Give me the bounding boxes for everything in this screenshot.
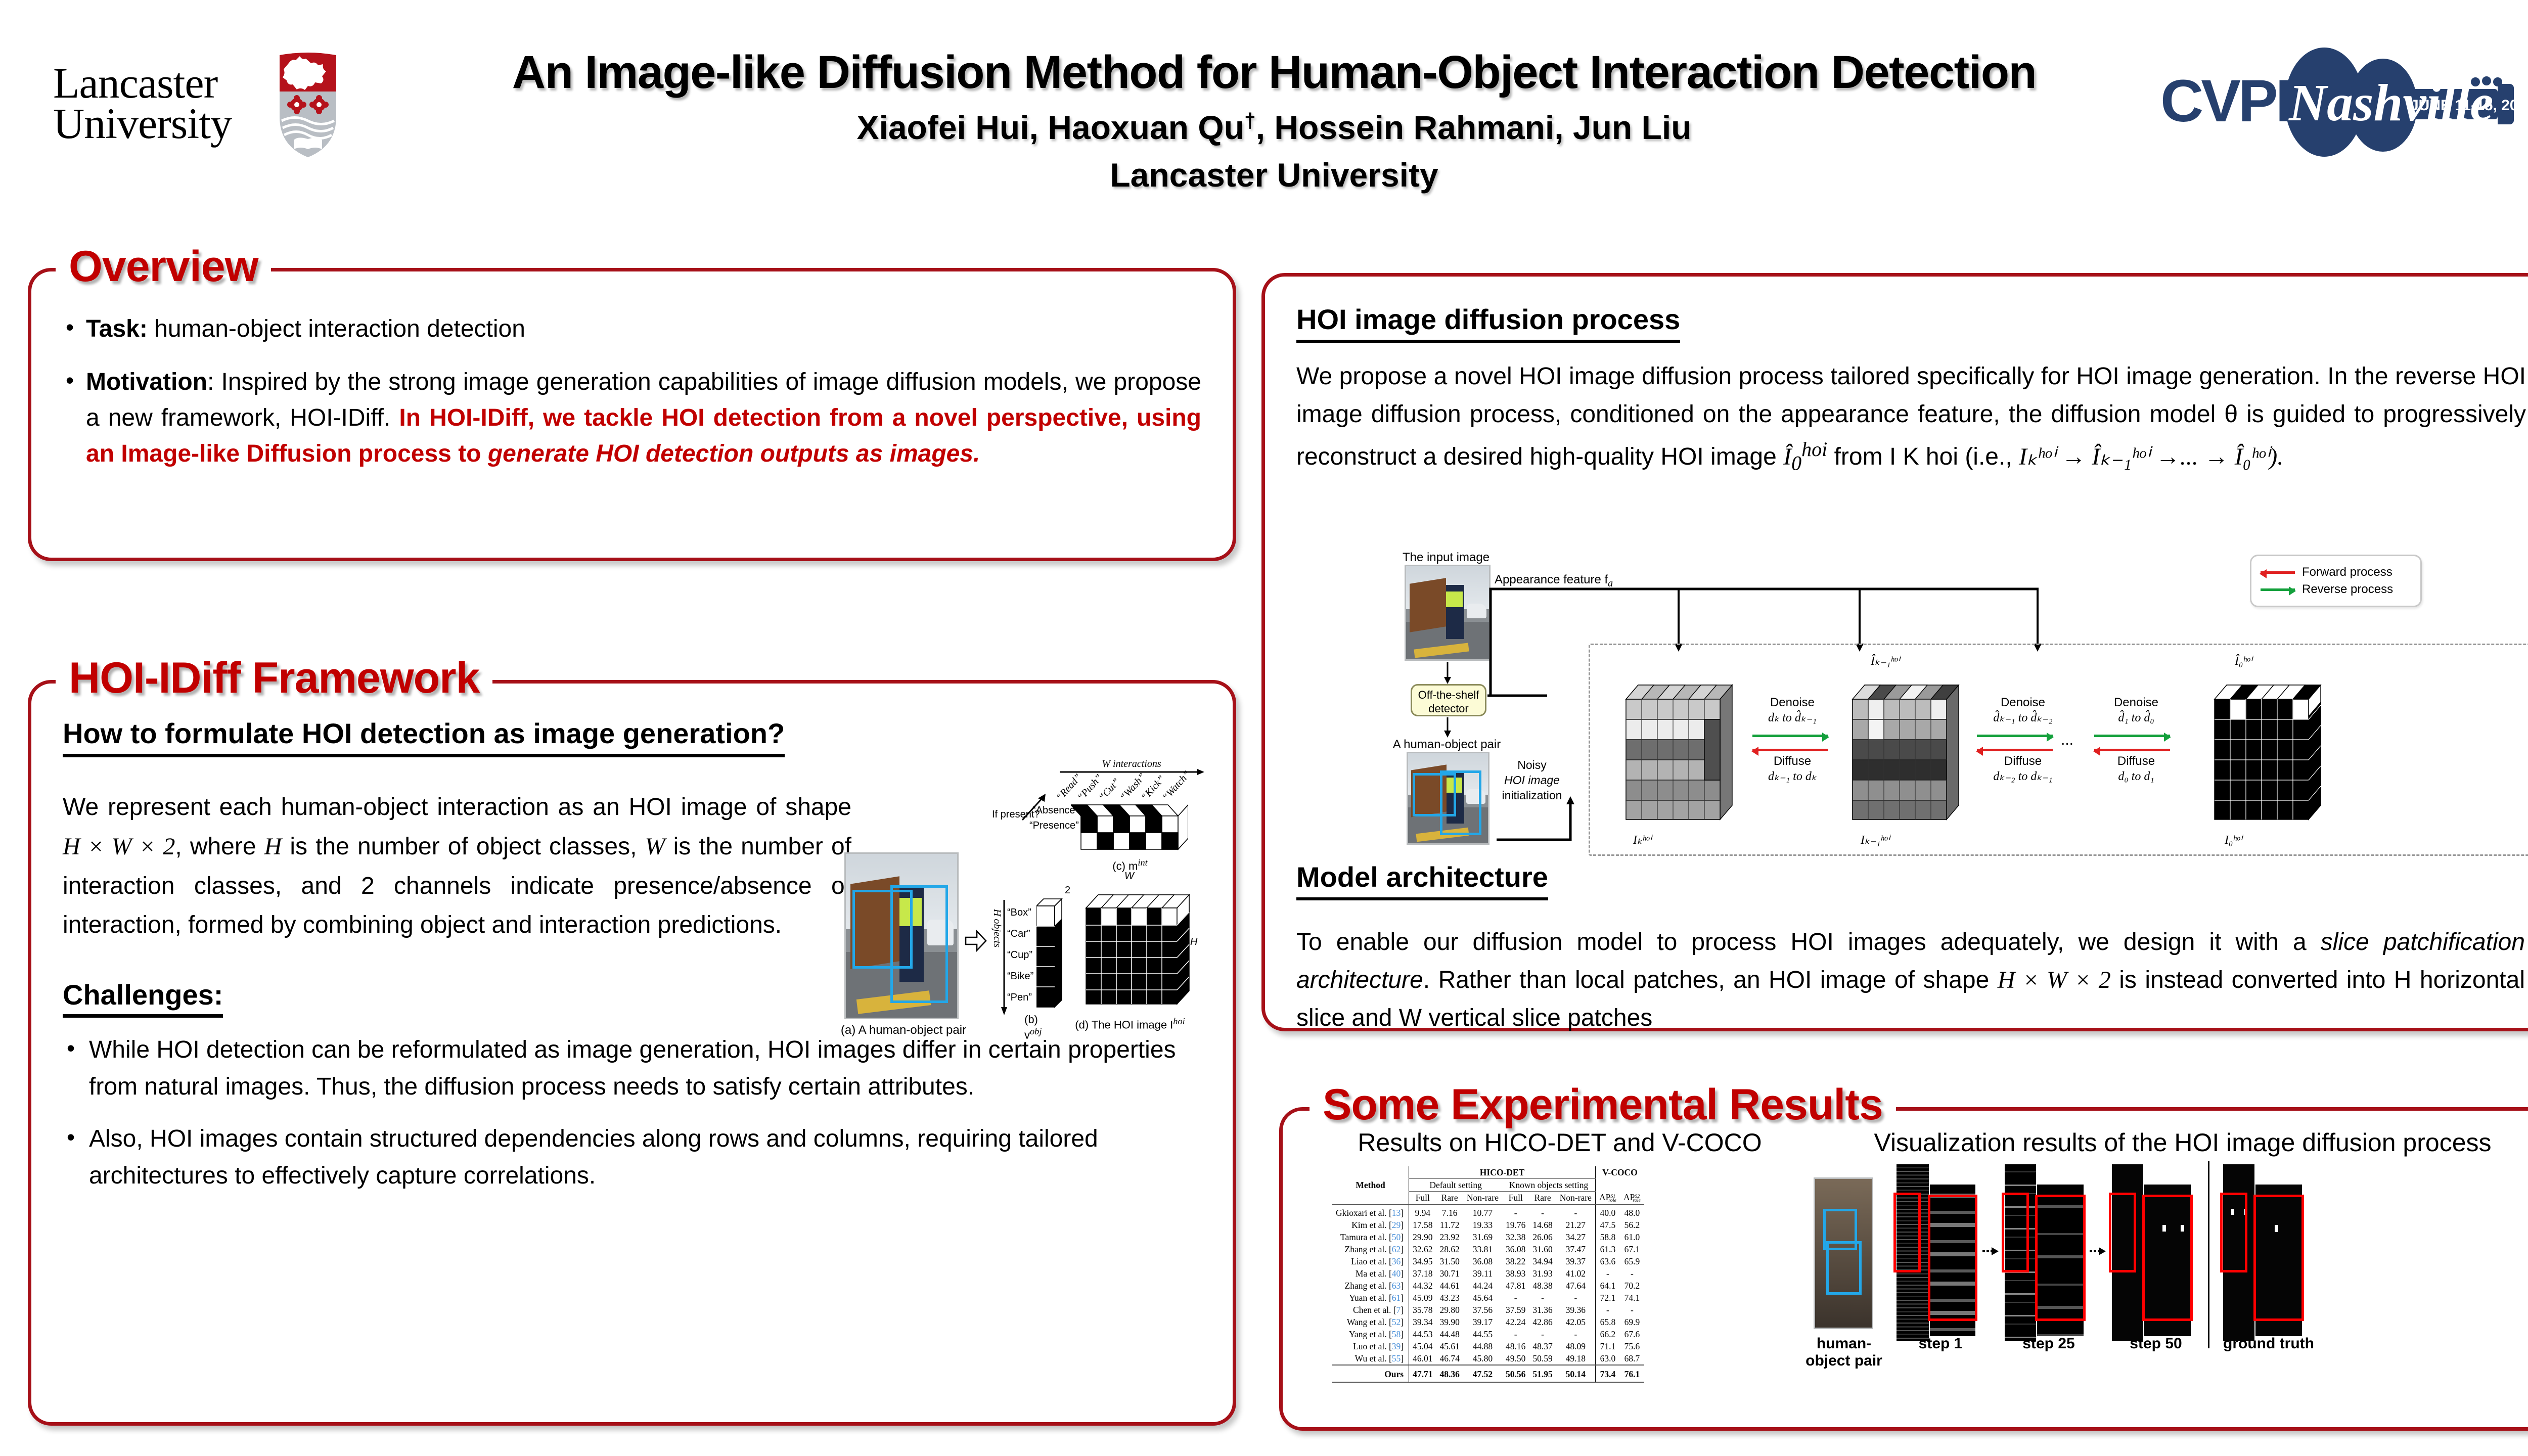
caption-c-sup: int	[1138, 857, 1147, 868]
table-cell-value: 26.06	[1529, 1231, 1556, 1243]
diffusion-formula-tail: from I K hoi (i.e.,	[1827, 443, 2019, 470]
table-cell-method: Yuan et al. [61]	[1332, 1292, 1409, 1304]
table-cell-value: 72.1	[1595, 1292, 1620, 1304]
table-cell-value: 48.16	[1502, 1340, 1529, 1352]
diffusion-paragraph: We propose a novel HOI image diffusion p…	[1296, 358, 2526, 479]
table-row: Zhang et al. [63]44.3244.6144.2447.8148.…	[1332, 1280, 1644, 1292]
authors-post: , Hossein Rahmani, Jun Liu	[1256, 109, 1692, 146]
table-cell-value: 68.7	[1620, 1352, 1644, 1365]
noisy-init-arrow-icon	[1495, 796, 1591, 843]
caption-d-sup: hoi	[1173, 1016, 1185, 1026]
detector-label-line1: Off-the-shelf	[1414, 689, 1483, 702]
lancaster-line-2: University	[53, 104, 232, 144]
col-ap-s1: APS1role	[1595, 1192, 1620, 1205]
table-row: Chen et al. [7]35.7829.8037.5637.5931.36…	[1332, 1304, 1644, 1316]
table-cell-value: 37.47	[1556, 1243, 1596, 1255]
table-row: Ours47.7148.3647.5250.5651.9550.1473.476…	[1332, 1365, 1644, 1382]
legend-reverse-label: Reverse process	[2302, 582, 2393, 597]
denoise-3-line1: Denoise	[2088, 695, 2184, 710]
table-group-header-row: Method HICO-DET V-COCO	[1332, 1166, 1644, 1179]
title-block: An Image-like Diffusion Method for Human…	[435, 48, 2113, 194]
detector-to-pair-arrow-icon	[1442, 717, 1453, 738]
figure-caption-a: (a) A human-object pair	[840, 1023, 967, 1037]
caption-b-sup: obj	[1030, 1026, 1042, 1036]
table-row: Yang et al. [58]44.5344.4844.55---66.267…	[1332, 1328, 1644, 1340]
table-cell-value: 42.05	[1556, 1316, 1596, 1328]
table-row: Ma et al. [40]37.1830.7139.1138.9331.934…	[1332, 1267, 1644, 1280]
viz-label-step1: step 1	[1903, 1335, 1978, 1352]
table-cell-value: 73.4	[1595, 1365, 1620, 1382]
viz-arrow-1-icon	[1982, 1246, 2000, 1256]
table-row: Yuan et al. [61]45.0943.2345.64---72.174…	[1332, 1292, 1644, 1304]
table-row: Kim et al. [29]17.5811.7219.3319.7614.68…	[1332, 1219, 1644, 1231]
mint-cuboid-icon	[1071, 801, 1188, 857]
table-cell-value: 74.1	[1620, 1292, 1644, 1304]
table-cell-value: 47.64	[1556, 1280, 1596, 1292]
cube-0-bottom-label: I₀ʰᵒⁱ	[2225, 833, 2242, 847]
transform-arrow-icon	[965, 929, 988, 952]
hoi-image-cube: W 2 H (d) The HOI image Ihoi	[1062, 871, 1213, 1032]
subgroup-known: Known objects setting	[1502, 1179, 1595, 1192]
table-cell-value: 9.94	[1409, 1205, 1436, 1219]
table-cell-value: 76.1	[1620, 1365, 1644, 1382]
table-cell-value: 51.95	[1529, 1365, 1556, 1382]
hoi-image-symbol: Î0hoi	[1783, 443, 1827, 470]
diffuse-2-line2: dₖ₋₂ to dₖ₋₁	[1970, 769, 2076, 784]
table-cell-value: 33.81	[1463, 1243, 1502, 1255]
object-vector-column: H objects “Box” “Car” “Cup” “Bike” “Pen”…	[996, 879, 1057, 1030]
lancaster-wordmark: Lancaster University	[53, 63, 232, 144]
denoise-2-line1: Denoise	[1970, 695, 2076, 710]
table-cell-value: -	[1529, 1292, 1556, 1304]
diffuse-label-2: Diffuse dₖ₋₂ to dₖ₋₁	[1970, 754, 2076, 784]
table-row: Zhang et al. [62]32.6228.6233.8136.0831.…	[1332, 1243, 1644, 1255]
table-cell-value: 46.74	[1436, 1352, 1463, 1365]
subgroup-default: Default setting	[1409, 1179, 1502, 1192]
table-cell-value: 32.38	[1502, 1231, 1529, 1243]
object-label-pen: “Pen”	[1007, 992, 1032, 1004]
table-cell-value: 31.93	[1529, 1267, 1556, 1280]
table-row: Tamura et al. [50]29.9023.9231.6932.3826…	[1332, 1231, 1644, 1243]
overview-bullet-motivation: Motivation: Inspired by the strong image…	[63, 364, 1201, 472]
challenge-item-2: Also, HOI images contain structured depe…	[63, 1121, 1201, 1195]
visualization-strip: human-object pair step 1 step 25 step 50	[1809, 1159, 2528, 1392]
detector-output-line-icon	[1487, 692, 1548, 699]
table-row: Luo et al. [39]45.0445.6144.8848.1648.37…	[1332, 1340, 1644, 1352]
table-cell-value: 48.09	[1556, 1340, 1596, 1352]
table-cell-value: 44.24	[1463, 1280, 1502, 1292]
viz-step25-right-redbox	[2035, 1195, 2086, 1321]
table-cell-value: 23.92	[1436, 1231, 1463, 1243]
denoise-1-line1: Denoise	[1744, 695, 1840, 710]
table-row: Liao et al. [36]34.9531.5036.0838.2234.9…	[1332, 1255, 1644, 1267]
table-caption: Results on HICO-DET and V-COCO	[1307, 1128, 1813, 1157]
col-full-1: Full	[1409, 1192, 1436, 1205]
table-row: Wu et al. [55]46.0146.7445.8049.5050.594…	[1332, 1352, 1644, 1365]
table-cell-method: Kim et al. [29]	[1332, 1219, 1409, 1231]
noisy-line-1: Noisy	[1497, 758, 1567, 773]
table-cell-value: 39.90	[1436, 1316, 1463, 1328]
framework-var-w: W	[645, 833, 665, 860]
viz-object-box	[1826, 1241, 1861, 1295]
table-cell-method: Chen et al. [7]	[1332, 1304, 1409, 1316]
table-cell-method: Zhang et al. [62]	[1332, 1243, 1409, 1255]
table-cell-value: 37.59	[1502, 1304, 1529, 1316]
results-section-title: Some Experimental Results	[1310, 1080, 1896, 1130]
viz-label-pair: human-object pair	[1799, 1335, 1888, 1370]
architecture-heading: Model architecture	[1296, 860, 1548, 900]
object-label-box: “Box”	[1007, 907, 1031, 919]
author-list: Xiaofei Hui, Haoxuan Qu†, Hossein Rahman…	[435, 108, 2113, 147]
table-row: Gkioxari et al. [13]9.947.1610.77---40.0…	[1332, 1205, 1644, 1219]
table-cell-value: 37.18	[1409, 1267, 1436, 1280]
viz-label-step50: step 50	[2118, 1335, 2194, 1352]
table-cell-value: 39.37	[1556, 1255, 1596, 1267]
architecture-paragraph: To enable our diffusion model to process…	[1296, 924, 2525, 1037]
table-cell-value: 35.78	[1409, 1304, 1436, 1316]
forward-arrow-2-icon	[1977, 749, 2053, 751]
cvpr-dates: JUNE 11-15, 2025	[2410, 97, 2515, 114]
reverse-arrow-3-icon	[2094, 735, 2170, 737]
task-label: Task:	[86, 315, 148, 342]
table-cell-value: 61.0	[1620, 1231, 1644, 1243]
interaction-cuboid: W interactions “Read” “Push” “Cut” “Wash…	[996, 756, 1213, 868]
table-cell-value: 44.53	[1409, 1328, 1436, 1340]
input-image-label: The input image	[1395, 551, 1497, 565]
table-cell-value: -	[1595, 1267, 1620, 1280]
group-hico-det: HICO-DET	[1409, 1166, 1596, 1179]
lancaster-shield-icon	[280, 52, 336, 158]
overview-bullets: Task: human-object interaction detection…	[63, 311, 1201, 472]
table-cell-value: 31.60	[1529, 1243, 1556, 1255]
col-ap-s2: APS2role	[1620, 1192, 1644, 1205]
task-text: human-object interaction detection	[148, 315, 525, 342]
table-cell-method: Yang et al. [58]	[1332, 1328, 1409, 1340]
cube-k-bottom-label: Iₖʰᵒⁱ	[1633, 833, 1651, 847]
table-cell-value: 44.32	[1409, 1280, 1436, 1292]
table-cell-value: -	[1620, 1267, 1644, 1280]
table-cell-value: -	[1556, 1205, 1596, 1219]
table-cell-value: 19.33	[1463, 1219, 1502, 1231]
reverse-arrow-1-icon	[1752, 735, 1828, 737]
col-rare-1: Rare	[1436, 1192, 1463, 1205]
table-cell-value: 36.08	[1502, 1243, 1529, 1255]
table-cell-value: 48.36	[1436, 1365, 1463, 1382]
col-method: Method	[1332, 1166, 1409, 1205]
overview-section-title: Overview	[56, 242, 271, 292]
table-cell-value: 45.09	[1409, 1292, 1436, 1304]
table-cell-value: 44.61	[1436, 1280, 1463, 1292]
table-cell-method: Wang et al. [52]	[1332, 1316, 1409, 1328]
table-cell-value: 11.72	[1436, 1219, 1463, 1231]
diffusion-cube-0	[2202, 671, 2329, 828]
results-panel: Results on HICO-DET and V-COCO Visualiza…	[1279, 1107, 2528, 1431]
table-cell-value: 45.04	[1409, 1340, 1436, 1352]
table-cell-value: 44.48	[1436, 1328, 1463, 1340]
table-cell-value: 39.34	[1409, 1316, 1436, 1328]
legend-forward-label: Forward process	[2302, 565, 2392, 579]
table-cell-value: 17.58	[1409, 1219, 1436, 1231]
hoi-construction-figure: (a) A human-object pair W interactions “…	[844, 753, 1218, 1072]
framework-question: How to formulate HOI detection as image …	[63, 717, 785, 757]
denoise-2-line2: d̂ₖ₋₁ to d̂ₖ₋₂	[1970, 710, 2076, 725]
input-image-photo	[1405, 565, 1491, 661]
visualization-caption: Visualization results of the HOI image d…	[1824, 1128, 2528, 1157]
table-cell-method: Ma et al. [40]	[1332, 1267, 1409, 1280]
lancaster-university-logo: Lancaster University	[53, 48, 356, 159]
table-cell-value: 44.88	[1463, 1340, 1502, 1352]
framework-para-1: We represent each human-object interacti…	[63, 794, 851, 821]
group-vcoco: V-COCO	[1595, 1166, 1644, 1179]
table-cell-value: 66.2	[1595, 1328, 1620, 1340]
col-rare-2: Rare	[1529, 1192, 1556, 1205]
table-cell-value: 10.77	[1463, 1205, 1502, 1219]
reverse-arrow-2-icon	[1977, 735, 2053, 737]
table-cell-value: 30.71	[1436, 1267, 1463, 1280]
table-cell-value: 50.56	[1502, 1365, 1529, 1382]
input-to-detector-arrow-icon	[1442, 662, 1453, 684]
arch-shape-expr: H × W × 2	[1998, 967, 2111, 993]
human-bounding-box	[890, 885, 948, 1003]
viz-divider	[2208, 1161, 2209, 1348]
table-cell-value: 64.1	[1595, 1280, 1620, 1292]
motivation-highlight-b: generate HOI detection outputs as images…	[488, 440, 980, 467]
lancaster-line-1: Lancaster	[53, 63, 232, 104]
table-cell-value: -	[1556, 1292, 1596, 1304]
human-object-pair-photo-2	[1407, 752, 1489, 845]
table-cell-value: 71.1	[1595, 1340, 1620, 1352]
table-cell-value: 47.5	[1595, 1219, 1620, 1231]
table-cell-value: 63.0	[1595, 1352, 1620, 1365]
table-cell-value: 45.80	[1463, 1352, 1502, 1365]
results-table-body: Gkioxari et al. [13]9.947.1610.77---40.0…	[1332, 1205, 1644, 1383]
object-label-car: “Car”	[1007, 928, 1030, 940]
w-interactions-label: W interactions	[1102, 758, 1161, 769]
legend-reverse-row: Reverse process	[2261, 582, 2411, 597]
denoise-1-line2: dₖ to d̂ₖ₋₁	[1744, 710, 1840, 725]
diffuse-label-1: Diffuse dₖ₋₁ to dₖ	[1744, 754, 1840, 784]
dim-2-label: 2	[1065, 885, 1070, 896]
table-cell-value: 47.52	[1463, 1365, 1502, 1382]
viz-step1-left-redbox	[1893, 1193, 1921, 1272]
table-cell-value: 46.01	[1409, 1352, 1436, 1365]
table-cell-value: 14.68	[1529, 1219, 1556, 1231]
table-cell-value: 45.64	[1463, 1292, 1502, 1304]
table-cell-value: -	[1556, 1328, 1596, 1340]
viz-gt-right-redbox	[2253, 1195, 2304, 1321]
diffusion-pipeline-figure: The input image Off-the-shelf detector A…	[1395, 543, 2528, 847]
table-cell-value: 61.3	[1595, 1243, 1620, 1255]
vobj-column-icon	[1036, 897, 1065, 1008]
table-cell-method: Ours	[1332, 1365, 1409, 1382]
dim-w-label: W	[1124, 871, 1134, 882]
table-cell-value: 39.11	[1463, 1267, 1502, 1280]
table-cell-value: 39.17	[1463, 1316, 1502, 1328]
table-cell-value: 40.0	[1595, 1205, 1620, 1219]
table-cell-value: -	[1620, 1304, 1644, 1316]
table-cell-value: -	[1595, 1304, 1620, 1316]
table-cell-value: 58.8	[1595, 1231, 1620, 1243]
col-full-2: Full	[1502, 1192, 1529, 1205]
caption-d-text: (d) The HOI image I	[1075, 1018, 1173, 1031]
table-cell-value: 31.36	[1529, 1304, 1556, 1316]
diffuse-2-line1: Diffuse	[1970, 754, 2076, 769]
authors-pre: Xiaofei Hui, Haoxuan Qu	[856, 109, 1244, 146]
viz-step50-right-redbox	[2142, 1195, 2193, 1321]
object-label-bike: “Bike”	[1007, 971, 1033, 982]
table-cell-value: 31.50	[1436, 1255, 1463, 1267]
diffusion-section-heading: HOI image diffusion process	[1296, 303, 1680, 343]
object-label-cup: “Cup”	[1007, 949, 1032, 961]
table-cell-value: 38.93	[1502, 1267, 1529, 1280]
table-cell-value: 47.81	[1502, 1280, 1529, 1292]
framework-paragraph: We represent each human-object interacti…	[63, 788, 851, 945]
denoise-label-3: Denoise d̂₁ to d̂₀	[2088, 695, 2184, 725]
forward-arrow-1-icon	[1752, 749, 1828, 751]
denoise-label-2: Denoise d̂ₖ₋₁ to d̂ₖ₋₂	[1970, 695, 2076, 725]
col-nonrare-1: Non-rare	[1463, 1192, 1502, 1205]
challenges-title: Challenges:	[63, 978, 223, 1018]
hoi-cube-icon	[1073, 883, 1199, 1015]
diffuse-1-line2: dₖ₋₁ to dₖ	[1744, 769, 1840, 784]
col-nonrare-2: Non-rare	[1556, 1192, 1596, 1205]
overview-panel: Task: human-object interaction detection…	[28, 268, 1236, 561]
framework-shape-expr: H × W × 2	[63, 833, 175, 860]
viz-arrow-2-icon	[2090, 1246, 2107, 1256]
affiliation: Lancaster University	[435, 156, 2113, 194]
page-title: An Image-like Diffusion Method for Human…	[435, 48, 2113, 97]
detector-label-line2: detector	[1414, 702, 1483, 716]
table-cell-method: Tamura et al. [50]	[1332, 1231, 1409, 1243]
cube-k1-bottom-label: Iₖ₋₁ʰᵒⁱ	[1861, 833, 1889, 847]
reverse-arrow-icon	[2261, 588, 2295, 591]
table-cell-value: 38.22	[1502, 1255, 1529, 1267]
results-table: Method HICO-DET V-COCO Default setting K…	[1332, 1166, 1644, 1383]
table-cell-value: 36.08	[1463, 1255, 1502, 1267]
viz-step1-right-redbox	[1928, 1195, 1977, 1321]
figure-caption-d: (d) The HOI image Ihoi	[1062, 1016, 1198, 1031]
arch-para-b: . Rather than local patches, an HOI imag…	[1423, 967, 1998, 993]
off-the-shelf-detector-box: Off-the-shelf detector	[1411, 684, 1486, 716]
table-cell-value: 70.2	[1620, 1280, 1644, 1292]
table-cell-value: 41.02	[1556, 1267, 1596, 1280]
table-cell-value: 56.2	[1620, 1219, 1644, 1231]
diffuse-1-line1: Diffuse	[1744, 754, 1840, 769]
figure-caption-b: (b) vobj	[1024, 1013, 1057, 1041]
cube-k1-top-label: Îₖ₋₁ʰᵒⁱ	[1871, 654, 1900, 668]
table-cell-value: -	[1529, 1328, 1556, 1340]
diffuse-3-line2: d₀ to d₁	[2088, 769, 2184, 784]
table-cell-value: 42.24	[1502, 1316, 1529, 1328]
dagger-mark: †	[1244, 109, 1256, 132]
table-cell-value: 50.59	[1529, 1352, 1556, 1365]
table-cell-value: 65.8	[1595, 1316, 1620, 1328]
table-cell-method: Wu et al. [55]	[1332, 1352, 1409, 1365]
table-cell-value: 47.71	[1409, 1365, 1436, 1382]
table-cell-method: Zhang et al. [63]	[1332, 1280, 1409, 1292]
table-cell-value: 37.56	[1463, 1304, 1502, 1316]
cvpr-nashville-logo: CVPR Nashville JUNE 11-15, 2025	[2146, 45, 2515, 162]
viz-pair-photo	[1814, 1177, 1873, 1329]
table-cell-value: 48.0	[1620, 1205, 1644, 1219]
table-cell-value: 29.90	[1409, 1231, 1436, 1243]
framework-para-2: , where	[175, 833, 264, 860]
diffuse-3-line1: Diffuse	[2088, 754, 2184, 769]
h-objects-arrow-icon	[1001, 900, 1007, 1016]
legend-forward-row: Forward process	[2261, 565, 2411, 579]
table-cell-value: 75.6	[1620, 1340, 1644, 1352]
table-cell-value: 39.36	[1556, 1304, 1596, 1316]
table-cell-value: -	[1502, 1328, 1529, 1340]
denoise-label-1: Denoise dₖ to d̂ₖ₋₁	[1744, 695, 1840, 725]
arch-para-a: To enable our diffusion model to process…	[1296, 929, 2321, 955]
diffuse-label-3: Diffuse d₀ to d₁	[2088, 754, 2184, 784]
table-cell-value: 42.86	[1529, 1316, 1556, 1328]
overview-bullet-task: Task: human-object interaction detection	[63, 311, 1201, 347]
table-cell-value: 34.94	[1529, 1255, 1556, 1267]
table-cell-value: 49.50	[1502, 1352, 1529, 1365]
table-cell-value: 43.23	[1436, 1292, 1463, 1304]
table-cell-value: 29.80	[1436, 1304, 1463, 1316]
table-cell-value: 67.1	[1620, 1243, 1644, 1255]
table-cell-value: 31.69	[1463, 1231, 1502, 1243]
results-table-wrapper: Method HICO-DET V-COCO Default setting K…	[1332, 1166, 1644, 1383]
viz-label-step25: step 25	[2011, 1335, 2087, 1352]
table-cell-value: 65.9	[1620, 1255, 1644, 1267]
process-legend: Forward process Reverse process	[2250, 555, 2422, 607]
pair-human-box	[1440, 770, 1481, 835]
table-cell-value: 21.27	[1556, 1219, 1596, 1231]
table-cell-value: 50.14	[1556, 1365, 1596, 1382]
table-cell-value: 67.6	[1620, 1328, 1644, 1340]
table-cell-value: 63.6	[1595, 1255, 1620, 1267]
cube-0-top-label: Î₀ʰᵒⁱ	[2235, 654, 2252, 668]
forward-arrow-icon	[2261, 571, 2295, 574]
framework-para-3: is the number of object classes,	[282, 833, 645, 860]
framework-section-title: HOI-IDiff Framework	[56, 653, 492, 703]
forward-arrow-3-icon	[2094, 749, 2170, 751]
table-cell-value: 48.38	[1529, 1280, 1556, 1292]
table-cell-value: -	[1529, 1205, 1556, 1219]
table-cell-value: 45.61	[1436, 1340, 1463, 1352]
table-row: Wang et al. [52]39.3439.9039.1742.2442.8…	[1332, 1316, 1644, 1328]
table-cell-value: -	[1502, 1205, 1529, 1219]
results-table-head: Method HICO-DET V-COCO Default setting K…	[1332, 1166, 1644, 1205]
table-cell-method: Liao et al. [36]	[1332, 1255, 1409, 1267]
table-cell-value: 34.95	[1409, 1255, 1436, 1267]
table-cell-value: 69.9	[1620, 1316, 1644, 1328]
denoise-3-line2: d̂₁ to d̂₀	[2088, 710, 2184, 725]
table-cell-value: 32.62	[1409, 1243, 1436, 1255]
table-cell-value: 28.62	[1436, 1243, 1463, 1255]
table-cell-method: Gkioxari et al. [13]	[1332, 1205, 1409, 1219]
table-cell-value: 34.27	[1556, 1231, 1596, 1243]
framework-var-h: H	[264, 833, 282, 860]
poster-header: Lancaster University	[0, 0, 2528, 238]
diffusion-cube-k-1	[1840, 671, 1967, 828]
table-cell-value: 44.55	[1463, 1328, 1502, 1340]
table-cell-method: Luo et al. [39]	[1332, 1340, 1409, 1352]
table-cell-value: 19.76	[1502, 1219, 1529, 1231]
motivation-label: Motivation	[86, 369, 207, 395]
human-object-pair-photo	[844, 852, 959, 1019]
viz-gt-left-redbox	[2220, 1193, 2247, 1272]
diffusion-cube-k	[1614, 671, 1740, 828]
table-cell-value: -	[1502, 1292, 1529, 1304]
steps-ellipsis: ...	[2061, 732, 2073, 749]
table-cell-value: 48.37	[1529, 1340, 1556, 1352]
noisy-line-2: HOI image	[1497, 773, 1567, 788]
